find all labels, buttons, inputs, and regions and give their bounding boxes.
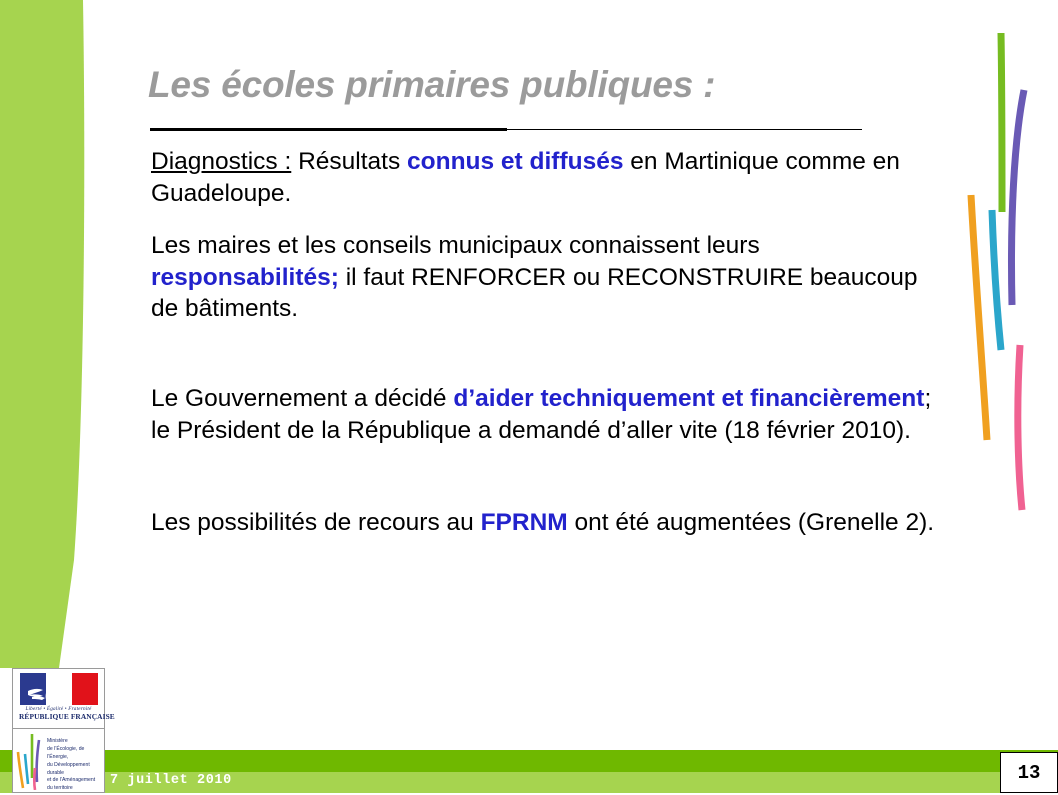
diagnostics-label: Diagnostics : <box>151 148 291 175</box>
title-block: Les écoles primaires publiques : <box>148 66 908 105</box>
page-number: 13 <box>1018 762 1041 784</box>
paragraph-gouvernement: Le Gouvernement a décidé d’aider techniq… <box>151 383 951 447</box>
marianne-logo: Liberté • Égalité • Fraternité RÉPUBLIQU… <box>13 669 104 729</box>
stroke-orange <box>971 195 987 440</box>
ministry-line-3: du Développement durable <box>47 762 103 778</box>
ministry-strokes-icon <box>15 732 45 790</box>
p3-highlight: d’aider techniquement et financièrement <box>453 385 924 412</box>
p2-segment-1: Les maires et les conseils municipaux co… <box>151 232 760 259</box>
page-title: Les écoles primaires publiques : <box>148 66 908 105</box>
title-divider <box>150 128 862 132</box>
footer-date: 7 juillet 2010 <box>110 773 232 788</box>
p1-highlight: connus et diffusés <box>407 148 623 175</box>
stroke-cyan <box>992 210 1001 350</box>
p2-highlight: responsabilités; <box>151 264 339 291</box>
ministry-line-4: et de l’Aménagement <box>47 777 103 785</box>
p4-segment-1: Les possibilités de recours au <box>151 509 481 536</box>
p3-segment-1: Le Gouvernement a décidé <box>151 385 453 412</box>
stroke-green <box>1001 33 1002 212</box>
french-flag-icon <box>20 673 98 705</box>
government-logo-block: Liberté • Égalité • Fraternité RÉPUBLIQU… <box>12 668 105 793</box>
body-content: Diagnostics : Résultats connus et diffus… <box>151 146 951 539</box>
ministry-line-5: du territoire <box>47 785 103 793</box>
logo-republic-label: RÉPUBLIQUE FRANÇAISE <box>19 712 98 721</box>
stroke-pink <box>1018 345 1022 510</box>
p4-segment-2: ont été augmentées (Grenelle 2). <box>568 509 934 536</box>
page-number-box: 13 <box>1000 752 1058 793</box>
ministry-line-1: Ministère <box>47 738 103 746</box>
p4-highlight: FPRNM <box>481 509 568 536</box>
footer-bar-dark <box>0 750 1058 772</box>
paragraph-fprnm: Les possibilités de recours au FPRNM ont… <box>151 507 951 539</box>
stroke-purple <box>1012 90 1025 305</box>
ministry-logo: Ministère de l’Écologie, de l’Énergie, d… <box>13 729 104 792</box>
title-divider-right <box>507 129 862 130</box>
left-decorative-panel <box>0 0 100 670</box>
paragraph-maires: Les maires et les conseils municipaux co… <box>151 230 951 326</box>
title-divider-left <box>150 128 507 131</box>
decorative-strokes <box>950 20 1058 540</box>
p1-segment-1: Résultats <box>291 148 407 175</box>
paragraph-diagnostics: Diagnostics : Résultats connus et diffus… <box>151 146 951 210</box>
ministry-text: Ministère de l’Écologie, de l’Énergie, d… <box>47 738 103 793</box>
ministry-line-2: de l’Écologie, de l’Énergie, <box>47 746 103 762</box>
